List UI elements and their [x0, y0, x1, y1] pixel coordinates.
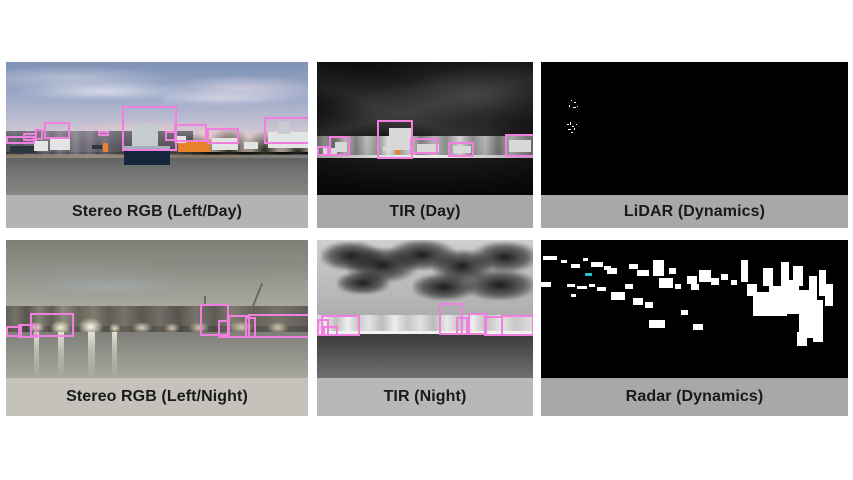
scene-lidar-dynamics: [541, 62, 848, 195]
radar-return: [625, 284, 633, 289]
panel-stereo-rgb-left-night[interactable]: Stereo RGB (Left/Night): [6, 240, 308, 416]
light-reflection: [34, 332, 39, 378]
vessel: [244, 142, 258, 149]
radar-return: [629, 264, 638, 269]
caption-bar-stereo-rgb-left-day: Stereo RGB (Left/Day): [6, 195, 308, 228]
cloud-layer: [473, 242, 533, 272]
radar-return: [797, 332, 807, 346]
radar-return: [813, 300, 823, 342]
scene-stereo-rgb-left-night: [6, 240, 308, 378]
radar-return: [645, 302, 653, 308]
lidar-point: [570, 122, 571, 125]
radar-return: [769, 286, 787, 316]
radar-return: [583, 258, 588, 261]
panel-stereo-rgb-left-day[interactable]: Stereo RGB (Left/Day): [6, 62, 308, 228]
scene-radar-dynamics: [541, 240, 848, 378]
caption-label: TIR (Day): [389, 203, 460, 221]
cloud-layer: [163, 91, 302, 104]
lidar-point: [573, 107, 576, 108]
vessel: [212, 138, 238, 150]
scene-tir-night: [317, 240, 533, 378]
light-reflection: [58, 332, 64, 378]
vessel-superstructure: [132, 124, 158, 146]
vignette-layer: [317, 62, 533, 195]
panel-tir-night[interactable]: TIR (Night): [317, 240, 533, 416]
vessel: [50, 138, 70, 150]
sensor-modality-figure: Stereo RGB (Left/Day) TIR (Da: [0, 0, 853, 480]
vessel-superstructure: [389, 128, 411, 150]
crane-structure: [204, 296, 206, 322]
caption-label: Radar (Dynamics): [626, 388, 764, 406]
light-reflection: [112, 332, 117, 378]
radar-return: [693, 324, 703, 330]
radar-return: [699, 270, 711, 282]
lidar-point: [576, 124, 577, 125]
lidar-point: [569, 105, 570, 107]
radar-return: [589, 284, 595, 287]
radar-return: [567, 284, 575, 287]
caption-label: TIR (Night): [384, 388, 467, 406]
scene-stereo-rgb-left-day: [6, 62, 308, 195]
radar-return: [649, 320, 665, 328]
radar-return: [607, 268, 617, 274]
radar-return: [597, 287, 606, 291]
radar-return: [633, 298, 643, 305]
radar-return: [721, 274, 728, 280]
radar-return: [653, 260, 664, 276]
vessel: [417, 144, 439, 152]
caption-label: Stereo RGB (Left/Day): [72, 203, 242, 221]
vessel: [335, 142, 347, 152]
lidar-point: [571, 100, 572, 101]
radar-return: [659, 278, 673, 288]
lidar-point: [567, 124, 569, 125]
radar-return: [825, 284, 833, 306]
radar-return: [731, 280, 737, 285]
lidar-background: [541, 62, 848, 195]
water-layer: [6, 332, 308, 378]
radar-return: [793, 266, 803, 286]
vessel: [176, 136, 186, 143]
radar-return: [763, 268, 773, 286]
radar-return: [571, 264, 580, 268]
caption-label: LiDAR (Dynamics): [624, 203, 765, 221]
lidar-point: [568, 129, 571, 130]
buoy: [103, 143, 108, 152]
panel-tir-day[interactable]: TIR (Day): [317, 62, 533, 228]
water-layer: [317, 334, 533, 378]
radar-return: [561, 260, 567, 263]
vessel: [453, 146, 471, 153]
radar-return: [591, 262, 603, 267]
radar-return: [753, 292, 769, 316]
radar-marker: [585, 273, 592, 276]
lidar-point: [572, 126, 574, 127]
radar-return: [611, 292, 625, 300]
lidar-point: [574, 102, 576, 103]
lidar-point: [571, 132, 573, 133]
caption-bar-radar-dynamics: Radar (Dynamics): [541, 378, 848, 416]
radar-return: [669, 268, 676, 274]
caption-label: Stereo RGB (Left/Night): [66, 388, 248, 406]
radar-return: [543, 256, 557, 260]
cloud-layer: [30, 276, 187, 295]
vessel: [34, 141, 48, 151]
radar-return: [741, 260, 748, 282]
caption-bar-lidar-dynamics: LiDAR (Dynamics): [541, 195, 848, 228]
radar-return: [571, 294, 576, 297]
panel-lidar-dynamics[interactable]: LiDAR (Dynamics): [541, 62, 848, 228]
vessel-superstructure: [278, 122, 290, 134]
lidar-point: [577, 106, 578, 107]
radar-return: [577, 286, 587, 289]
vessel: [92, 145, 102, 149]
vessel: [10, 146, 36, 153]
caption-bar-tir-day: TIR (Day): [317, 195, 533, 228]
caption-bar-tir-night: TIR (Night): [317, 378, 533, 416]
panel-radar-dynamics[interactable]: Radar (Dynamics): [541, 240, 848, 416]
light-reflection: [88, 332, 95, 378]
vessel-hull: [124, 146, 170, 165]
radar-return: [541, 282, 551, 287]
radar-return: [637, 270, 649, 276]
radar-return: [691, 284, 699, 290]
radar-return: [711, 278, 719, 285]
vessel: [268, 132, 308, 148]
lidar-point: [574, 128, 575, 130]
radar-return: [681, 310, 688, 315]
radar-return: [675, 284, 681, 289]
cloud-layer: [337, 272, 389, 294]
scene-tir-day: [317, 62, 533, 195]
cloud-layer: [465, 270, 533, 300]
vessel: [509, 140, 531, 152]
city-skyline: [317, 315, 533, 333]
radar-return: [687, 276, 697, 284]
caption-bar-stereo-rgb-left-night: Stereo RGB (Left/Night): [6, 378, 308, 416]
